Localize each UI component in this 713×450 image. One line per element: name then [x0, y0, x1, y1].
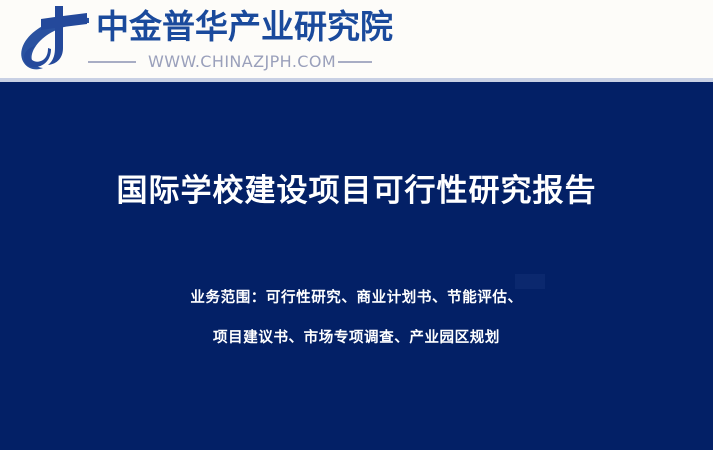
brand-website-row: WWW.CHINAZJPH.COM [88, 52, 408, 72]
url-rule-right [338, 61, 372, 63]
cover-header: 中金普华产业研究院 WWW.CHINAZJPH.COM [0, 0, 713, 80]
report-cover-page: 中金普华产业研究院 WWW.CHINAZJPH.COM 国际学校建设项目可行性研… [0, 0, 713, 450]
business-scope-line-2: 项目建议书、市场专项调查、产业园区规划 [0, 328, 713, 348]
url-rule-left [88, 61, 136, 63]
zjph-swoosh-logo-icon [11, 2, 91, 76]
page-title: 国际学校建设项目可行性研究报告 [0, 172, 713, 210]
business-scope-line-1: 业务范围：可行性研究、商业计划书、节能评估、 [0, 288, 713, 308]
cover-body-panel [0, 82, 713, 450]
brand-website-url: WWW.CHINAZJPH.COM [148, 53, 336, 71]
brand-name: 中金普华产业研究院 [96, 7, 393, 47]
watermark-artifact [515, 274, 545, 289]
